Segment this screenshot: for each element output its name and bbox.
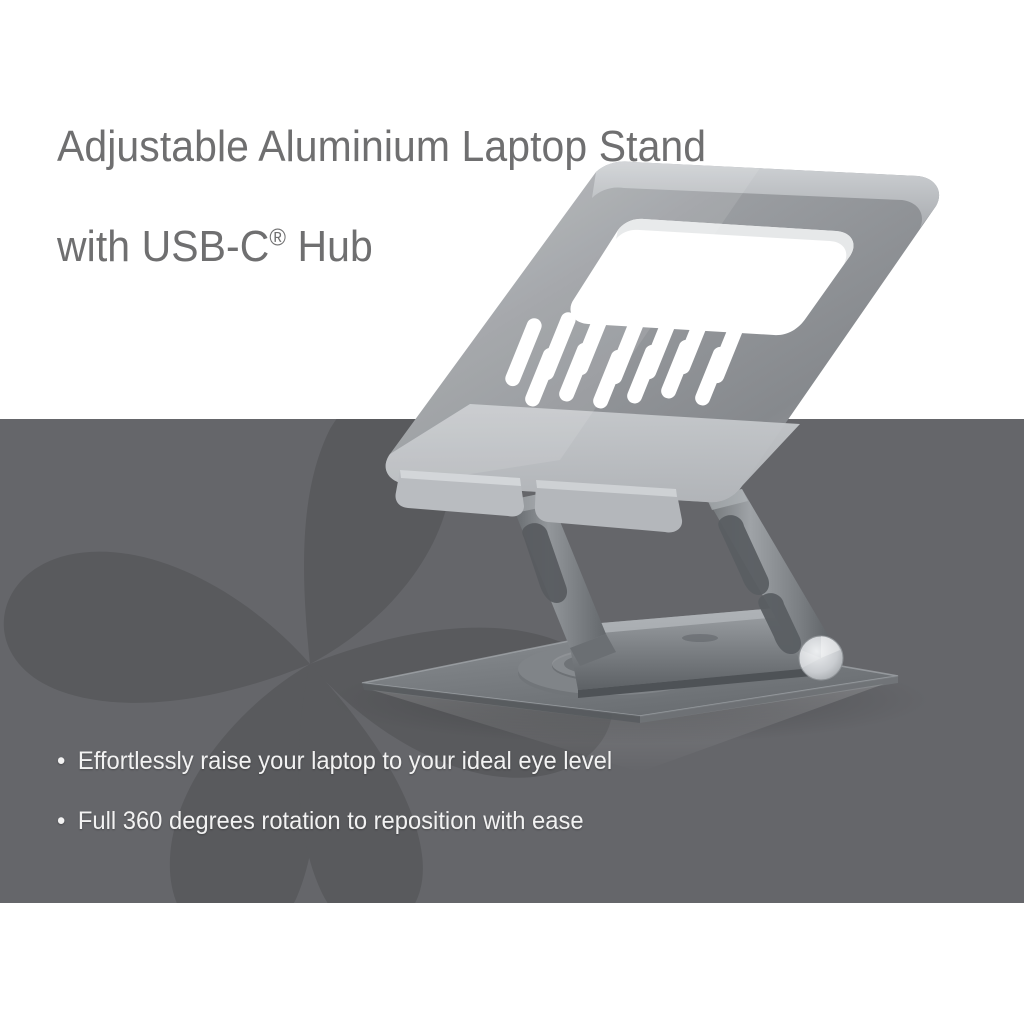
vent-slots <box>503 304 748 411</box>
title-line-1: Adjustable Aluminium Laptop Stand <box>57 122 706 171</box>
bullet-icon: • <box>57 746 78 776</box>
list-item: • Full 360 degrees rotation to repositio… <box>57 806 874 836</box>
page-title: Adjustable Aluminium Laptop Stand with U… <box>57 72 875 272</box>
registered-trademark-icon: ® <box>269 224 286 251</box>
title-line-2-suffix: Hub <box>286 222 373 271</box>
bullet-text: Full 360 degrees rotation to reposition … <box>78 806 584 836</box>
bullet-text: Effortlessly raise your laptop to your i… <box>78 746 612 776</box>
list-item: • Effortlessly raise your laptop to your… <box>57 746 874 776</box>
bullet-icon: • <box>57 806 78 836</box>
product-banner: Adjustable Aluminium Laptop Stand with U… <box>0 0 1024 1024</box>
feature-bullet-list: • Effortlessly raise your laptop to your… <box>57 746 917 866</box>
title-line-2-prefix: with USB-C <box>57 222 269 271</box>
petal-top <box>304 419 452 664</box>
petal-left <box>4 552 310 703</box>
